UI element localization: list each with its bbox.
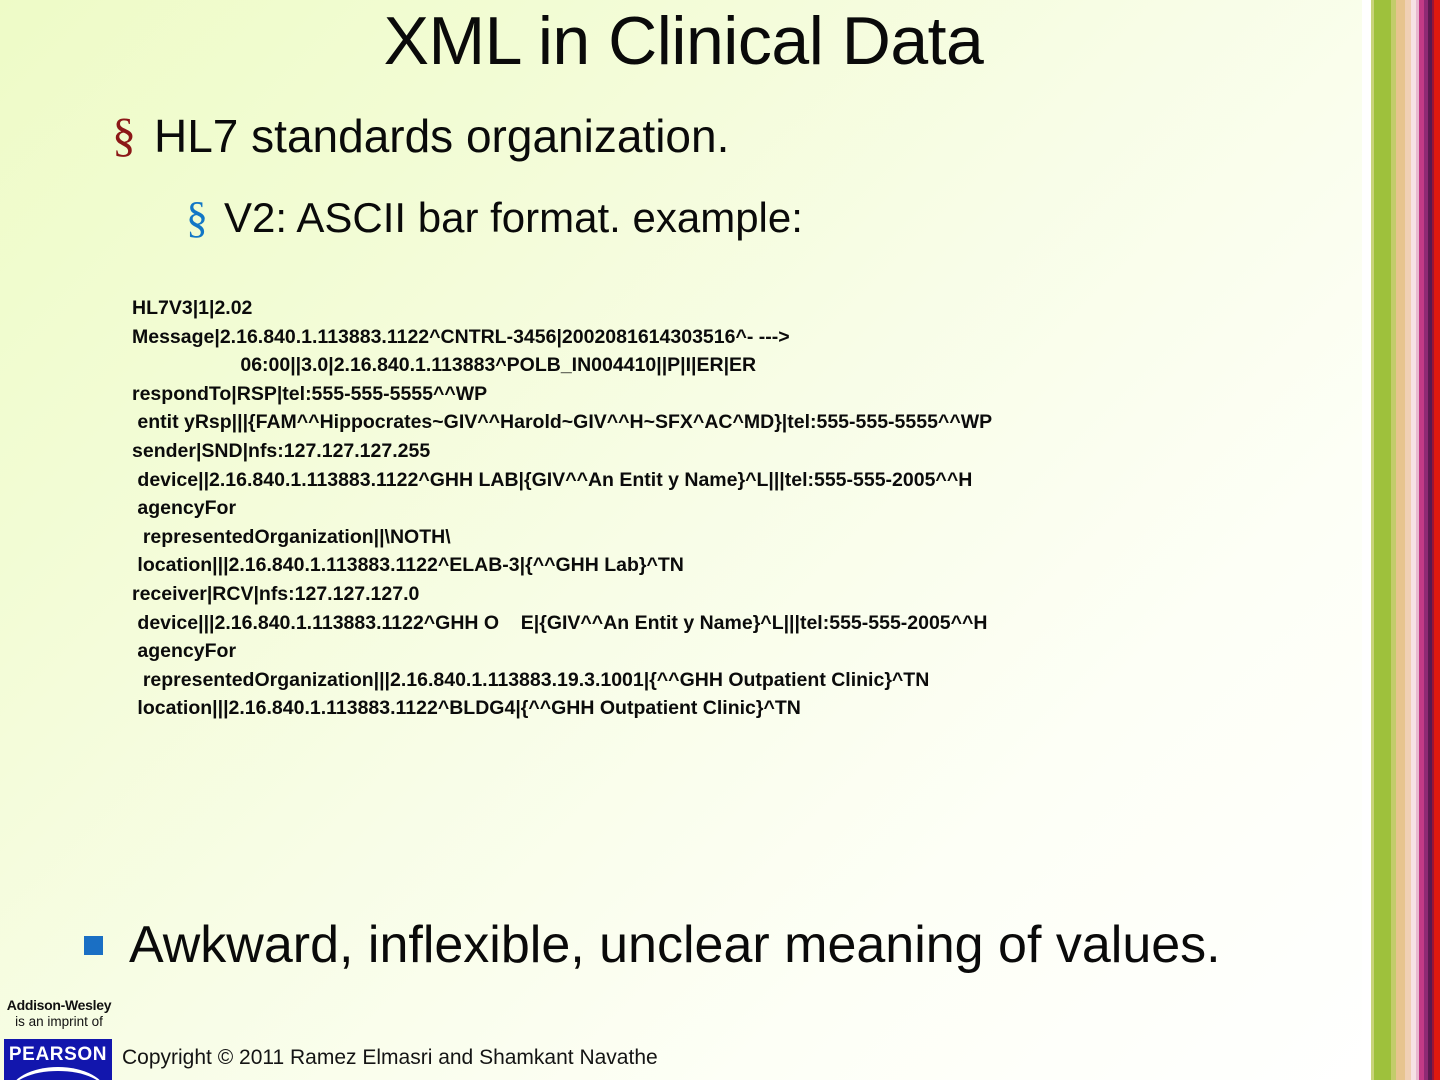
pearson-wordmark: PEARSON bbox=[4, 1044, 112, 1066]
page-title: XML in Clinical Data bbox=[0, 6, 1367, 77]
code-line: HL7V3|1|2.02 bbox=[132, 294, 992, 323]
code-line: sender|SND|nfs:127.127.127.255 bbox=[132, 437, 992, 466]
hl7-message-code-block: HL7V3|1|2.02Message|2.16.840.1.113883.11… bbox=[132, 294, 992, 723]
code-line: location|||2.16.840.1.113883.1122^ELAB-3… bbox=[132, 551, 992, 580]
code-line: Message|2.16.840.1.113883.1122^CNTRL-345… bbox=[132, 323, 992, 352]
bottom-bullet: Awkward, inflexible, unclear meaning of … bbox=[84, 915, 1221, 975]
decorative-stripe bbox=[1362, 0, 1440, 1080]
code-line: device|||2.16.840.1.113883.1122^GHH O E|… bbox=[132, 609, 992, 638]
code-line: respondTo|RSP|tel:555-555-5555^^WP bbox=[132, 380, 992, 409]
stripe-band bbox=[1396, 0, 1405, 1080]
imprint-tagline: is an imprint of bbox=[5, 1014, 113, 1030]
code-line: entit yRsp|||{FAM^^Hippocrates~GIV^^Haro… bbox=[132, 408, 992, 437]
code-line: receiver|RCV|nfs:127.127.127.0 bbox=[132, 580, 992, 609]
bullet-level1-label: HL7 standards organization. bbox=[154, 112, 729, 160]
code-line: device||2.16.840.1.113883.1122^GHH LAB|{… bbox=[132, 466, 992, 495]
code-line: agencyFor bbox=[132, 637, 992, 666]
slide-canvas: XML in Clinical Data § HL7 standards org… bbox=[0, 0, 1440, 1080]
addison-wesley-imprint: Addison-Wesley is an imprint of bbox=[5, 997, 113, 1030]
bottom-bullet-label: Awkward, inflexible, unclear meaning of … bbox=[129, 915, 1221, 975]
stripe-band bbox=[1362, 0, 1371, 1080]
imprint-name: Addison-Wesley bbox=[5, 997, 113, 1014]
bullet-level2: § V2: ASCII bar format. example: bbox=[186, 196, 803, 240]
code-line: representedOrganization|||2.16.840.1.113… bbox=[132, 666, 992, 695]
code-line: agencyFor bbox=[132, 494, 992, 523]
square-bullet-icon bbox=[84, 936, 103, 955]
code-line: 06:00||3.0|2.16.840.1.113883^POLB_IN0044… bbox=[132, 351, 992, 380]
stripe-band bbox=[1374, 0, 1391, 1080]
bullet-level2-label: V2: ASCII bar format. example: bbox=[224, 196, 803, 240]
bullet-level1: § HL7 standards organization. bbox=[112, 112, 729, 160]
stripe-band bbox=[1434, 0, 1440, 1080]
section-marker-icon: § bbox=[112, 112, 136, 160]
pearson-logo: PEARSON bbox=[4, 1039, 112, 1080]
code-line: representedOrganization||\NOTH\ bbox=[132, 523, 992, 552]
copyright-notice: Copyright © 2011 Ramez Elmasri and Shamk… bbox=[122, 1046, 658, 1070]
section-marker-icon: § bbox=[186, 196, 208, 240]
code-line: location|||2.16.840.1.113883.1122^BLDG4|… bbox=[132, 694, 992, 723]
pearson-arc-icon bbox=[10, 1067, 106, 1080]
